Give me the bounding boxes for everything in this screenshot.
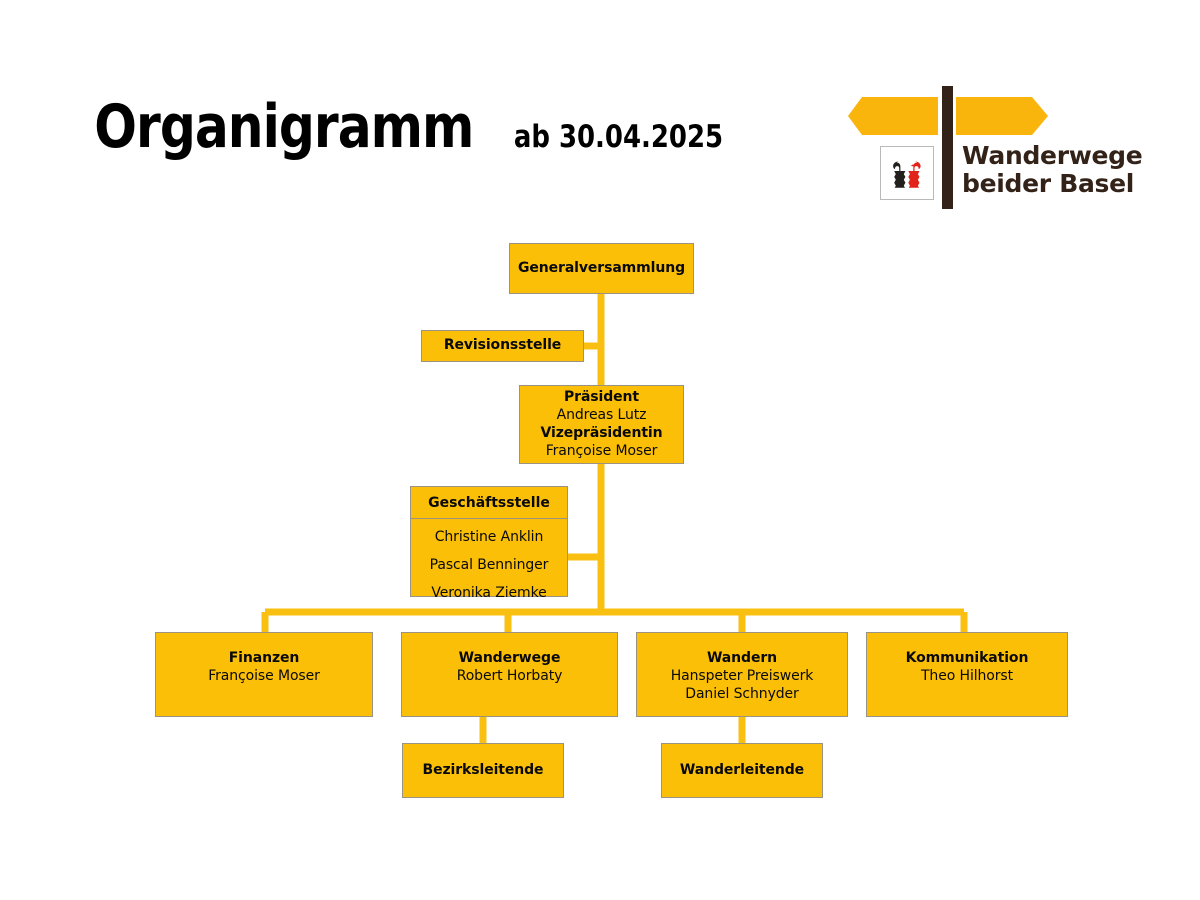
org-node-title-vizepraesidentin: Vizepräsidentin: [541, 425, 663, 442]
org-node-finanzen[interactable]: Finanzen Françoise Moser: [155, 632, 373, 717]
org-node-members: Christine Anklin Pascal Benninger Veroni…: [411, 519, 567, 603]
org-node-title: Finanzen: [229, 650, 300, 667]
org-chart: Generalversammlung Revisionsstelle Präsi…: [0, 0, 1200, 900]
org-node-member: Hanspeter Preiswerk: [671, 667, 814, 685]
org-node-member: Theo Hilhorst: [921, 667, 1013, 685]
org-node-name-praesident: Andreas Lutz: [557, 406, 647, 424]
org-node-title: Wandern: [707, 650, 777, 667]
org-node-member: Robert Horbaty: [457, 667, 563, 685]
org-node-member: Daniel Schnyder: [685, 685, 798, 703]
org-node-title: Kommunikation: [906, 650, 1029, 667]
org-node-member: Christine Anklin: [417, 528, 561, 546]
org-node-title: Generalversammlung: [518, 260, 685, 277]
org-node-member: Pascal Benninger: [417, 556, 561, 574]
org-node-wanderleitende[interactable]: Wanderleitende: [661, 743, 823, 798]
org-node-bezirksleitende[interactable]: Bezirksleitende: [402, 743, 564, 798]
org-node-name-vizepraesidentin: Françoise Moser: [546, 442, 658, 460]
org-node-title: Bezirksleitende: [423, 762, 544, 779]
org-node-kommunikation[interactable]: Kommunikation Theo Hilhorst: [866, 632, 1068, 717]
org-node-praesidium[interactable]: Präsident Andreas Lutz Vizepräsidentin F…: [519, 385, 684, 464]
org-node-generalversammlung[interactable]: Generalversammlung: [509, 243, 694, 294]
org-node-title: Wanderleitende: [680, 762, 804, 779]
org-node-title: Geschäftsstelle: [411, 487, 567, 519]
org-node-title: Wanderwege: [459, 650, 561, 667]
org-node-member: Françoise Moser: [208, 667, 320, 685]
org-node-title-praesident: Präsident: [564, 389, 639, 406]
org-node-geschaeftsstelle[interactable]: Geschäftsstelle Christine Anklin Pascal …: [410, 486, 568, 597]
org-node-revisionsstelle[interactable]: Revisionsstelle: [421, 330, 584, 362]
org-node-title: Revisionsstelle: [444, 337, 561, 354]
org-node-wanderwege[interactable]: Wanderwege Robert Horbaty: [401, 632, 618, 717]
org-node-member: Veronika Ziemke: [417, 584, 561, 602]
org-node-wandern[interactable]: Wandern Hanspeter Preiswerk Daniel Schny…: [636, 632, 848, 717]
